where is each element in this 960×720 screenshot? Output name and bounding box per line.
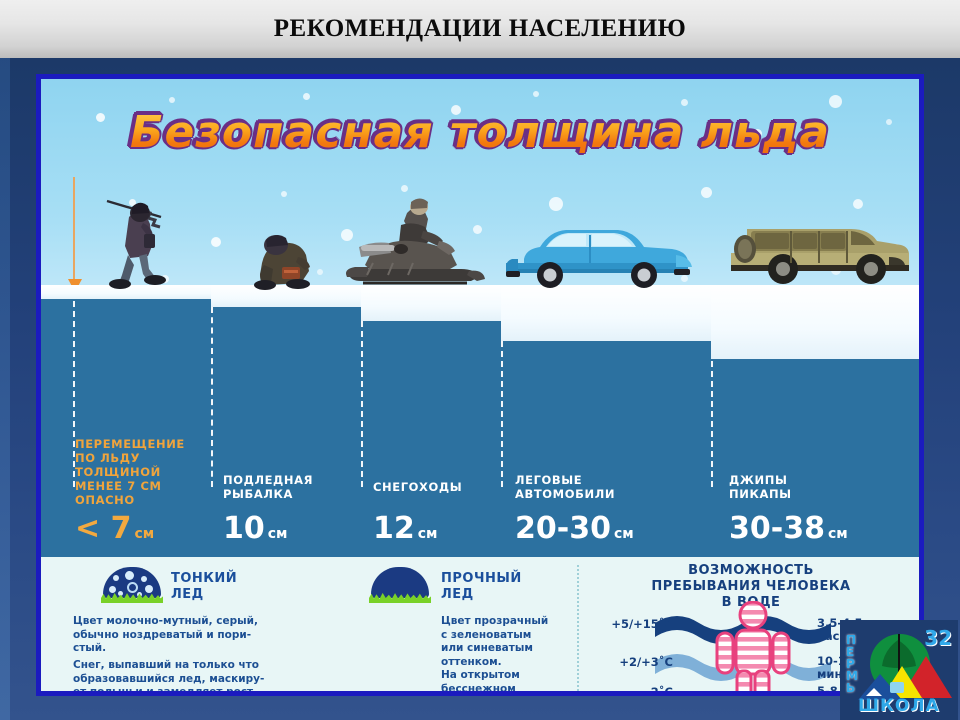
snowflake-icon [211,237,221,247]
temperature-label: +2/+3˚C [593,655,673,669]
thickness-column-4: ЛЕГОВЫЕ АВТОМОБИЛИ 20-30см [501,487,711,557]
thickness-title: ЛЕГОВЫЕ АВТОМОБИЛИ [515,473,705,501]
snowflake-icon [533,91,539,97]
thickness-unit: см [134,526,154,542]
strong-ice-paragraph-2: На открытом бесснежном пространстве всег… [441,669,566,696]
strong-ice-dome-icon [369,567,431,603]
dome-shape [371,567,429,598]
thickness-value: 12см [373,513,438,550]
water-zone-4 [501,341,711,487]
thickness-value: < 7см [75,513,154,550]
logo-word: ШКОЛА [858,696,940,716]
zone-divider [501,341,503,487]
bubble-icon [141,576,147,582]
thickness-unit: см [614,526,634,542]
snowflake-icon [853,199,863,209]
snowflake-icon [169,97,175,103]
thickness-column-5: ДЖИПЫ ПИКАПЫ 30-38см [711,487,919,557]
page-header: РЕКОМЕНДАЦИИ НАСЕЛЕНИЮ [0,0,960,58]
thickness-value: 30-38см [729,513,848,550]
thickness-column-3: СНЕГОХОДЫ 12см [361,487,501,557]
thickness-title: ПЕРЕМЕЩЕНИЕ ПО ЛЬДУ ТОЛЩИНОЙ МЕНЕЕ 7 СМ … [75,437,205,507]
bubble-icon [125,571,134,580]
thickness-title: ДЖИПЫ ПИКАПЫ [729,473,909,501]
ice-info-panel: ТОНКИЙ ЛЕД Цвет молочно-мутный, серый, о… [41,557,919,696]
ice-scene: Безопасная толщина льда [41,79,919,487]
logo-number: 32 [924,626,952,650]
thickness-value: 20-30см [515,513,634,550]
thin-ice-block: ТОНКИЙ ЛЕД Цвет молочно-мутный, серый, о… [41,557,341,696]
ice-layer-zone-5 [711,285,919,359]
thickness-unit: см [828,526,848,542]
ice-layer-zone-4 [501,285,711,341]
temperature-label: -2˚C [593,685,673,696]
strong-ice-block: ПРОЧНЫЙ ЛЕД Цвет прозрачный с зеленоваты… [341,557,571,696]
thickness-label-band: ПЕРЕМЕЩЕНИЕ ПО ЛЬДУ ТОЛЩИНОЙ МЕНЕЕ 7 СМ … [41,487,919,557]
panel-divider [577,565,579,695]
school-logo: ПЕРМЬ 32 ШКОЛА [840,620,958,720]
water-zone-5 [711,359,919,487]
zone-divider [211,307,213,487]
thickness-number: < 7 [75,511,131,546]
page-title: РЕКОМЕНДАЦИИ НАСЕЛЕНИЮ [274,15,686,43]
fisherman-sitting-icon [246,227,324,291]
car-icon [506,225,696,291]
thickness-column-2: ПОДЛЕДНАЯ РЫБАЛКА 10см [211,487,361,557]
thin-ice-paragraph-2: Снег, выпавший на только что образовавши… [73,659,328,696]
thickness-number: 12 [373,511,415,546]
human-figure-icon [707,601,799,696]
water-zone-3 [361,321,501,487]
bubble-icon [127,582,138,593]
thickness-column-1: ПЕРЕМЕЩЕНИЕ ПО ЛЬДУ ТОЛЩИНОЙ МЕНЕЕ 7 СМ … [41,487,211,557]
measure-line [73,177,75,285]
bubble-icon [113,575,119,581]
thickness-number: 30-38 [729,511,825,546]
thickness-value: 10см [223,513,288,550]
thin-ice-dome-icon [101,567,163,603]
thin-ice-label: ТОНКИЙ ЛЕД [171,571,237,603]
snowflake-icon [281,191,287,197]
snowmobile-icon [343,197,503,289]
thickness-number: 10 [223,511,265,546]
zone-divider [361,321,363,487]
strong-ice-label: ПРОЧНЫЙ ЛЕД [441,571,522,603]
jeep-icon [731,209,911,289]
thin-ice-paragraph-1: Цвет молочно-мутный, серый, обычно ноздр… [73,615,323,656]
bubble-icon [109,586,116,593]
water-zone-2 [211,307,361,487]
temperature-label: +5/+15˚C [593,617,673,631]
fisherman-walking-icon [103,187,193,289]
bubble-icon [145,585,153,593]
ice-safety-poster: Безопасная толщина льда [36,74,924,696]
zone-divider [711,361,713,487]
logo-city-label: ПЕРМЬ [846,634,860,694]
thickness-unit: см [418,526,438,542]
thickness-unit: см [268,526,288,542]
thickness-number: 20-30 [515,511,611,546]
snowflake-icon [549,197,563,211]
thickness-title: СНЕГОХОДЫ [373,480,498,494]
snowflake-icon [681,99,688,106]
snowflake-icon [701,187,712,198]
poster-title: Безопасная толщина льда [41,107,919,158]
snowflake-icon [401,185,408,192]
snowflake-icon [303,93,310,100]
ice-layer-zone-3 [361,285,501,321]
thickness-title: ПОДЛЕДНАЯ РЫБАЛКА [223,473,353,501]
strong-ice-paragraph-1: Цвет прозрачный с зеленоватым или синева… [441,615,566,669]
